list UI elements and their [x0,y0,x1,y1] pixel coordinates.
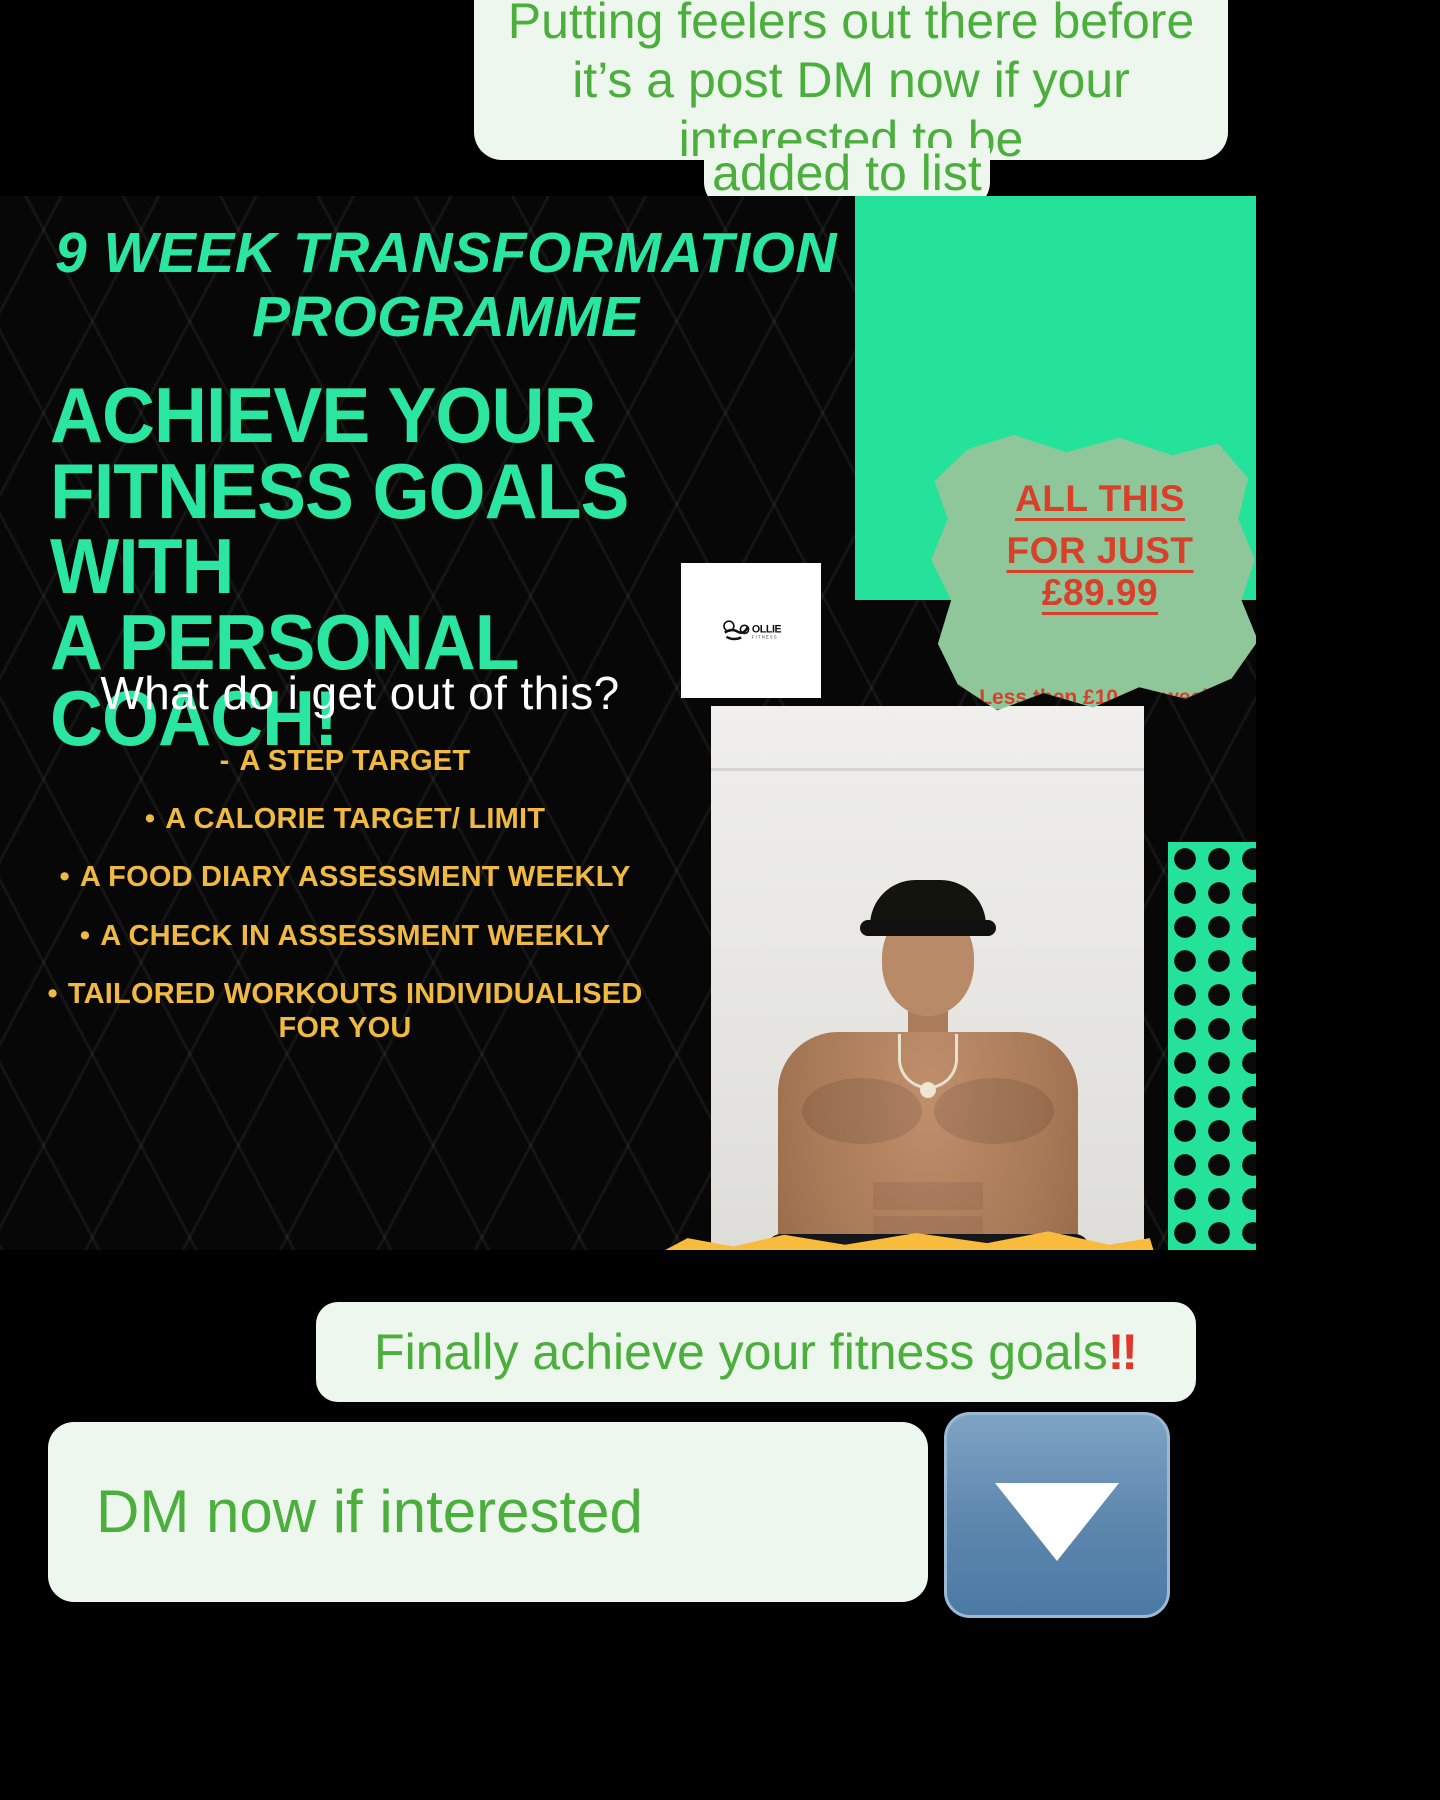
caption-top-text: Putting feelers out there before it’s a … [492,0,1210,169]
bullet-text: A FOOD DIARY ASSESSMENT WEEKLY [80,861,631,893]
pendant-icon [920,1082,936,1098]
brush-caption: online fitness coaching [652,1236,1160,1250]
logo-subtext: FITNESS [751,634,780,639]
promo-poster[interactable]: 9 WEEK TRANSFORMATION PROGRAMME ACHIEVE … [0,196,1256,1250]
brand-logo-card: OLLIE FITNESS [681,563,821,698]
story-canvas: Putting feelers out there before it’s a … [0,0,1440,1800]
necklace-icon [898,1034,958,1089]
bullet-text: A CHECK IN ASSESSMENT WEEKLY [100,920,610,952]
caption-top[interactable]: Putting feelers out there before it’s a … [474,0,1228,160]
list-item: •A CHECK IN ASSESSMENT WEEKLY [0,919,690,953]
bullet-marker: • [48,977,58,1011]
poster-question: What do i get out of this? [40,666,680,720]
caption-bottom-text: DM now if interested [96,1477,643,1548]
figure-chest-left [802,1078,922,1144]
benefits-list: -A STEP TARGET •A CALORIE TARGET/ LIMIT … [0,744,690,1069]
poster-eyebrow-line2: PROGRAMME [36,286,856,350]
poster-headline-line1: ACHIEVE YOUR [50,378,633,454]
triangle-down-icon [995,1483,1119,1561]
caption-bottom[interactable]: DM now if interested [48,1422,928,1602]
caption-top-overflow-text: added to list [712,148,982,198]
bullet-marker: • [145,802,155,836]
cap-brim [860,920,996,936]
triangle-down-button[interactable] [944,1412,1170,1618]
list-item: •A FOOD DIARY ASSESSMENT WEEKLY [0,860,690,894]
photo-wall-line [711,768,1144,771]
caption-middle-text: Finally achieve your fitness goals [374,1323,1108,1382]
coach-figure [778,906,1078,1250]
price-badge-line2: FOR JUST £89.99 [952,530,1248,614]
poster-eyebrow-line1: 9 WEEK TRANSFORMATION [36,222,856,286]
figure-chest-right [934,1078,1054,1144]
poster-eyebrow: 9 WEEK TRANSFORMATION PROGRAMME [36,222,856,350]
list-item: •TAILORED WORKOUTS INDIVIDUALISED FOR YO… [0,977,690,1045]
figure-torso [778,1032,1078,1250]
double-exclamation-icon: ‼ [1108,1323,1138,1382]
logo-wordmark: OLLIE [751,622,780,634]
bullet-marker: • [60,860,70,894]
poster-headline-line2: FITNESS GOALS WITH [50,454,633,605]
coach-photo[interactable]: ⌃ [711,706,1144,1250]
price-badge: ALL THIS FOR JUST £89.99 Less then £10 p… [928,432,1256,722]
bodybuilder-icon [721,618,749,643]
bullet-marker: • [80,919,90,953]
bullet-text: TAILORED WORKOUTS INDIVIDUALISED FOR YOU [68,978,643,1044]
list-item: •A CALORIE TARGET/ LIMIT [0,802,690,836]
caption-middle[interactable]: Finally achieve your fitness goals‼ [316,1302,1196,1402]
bullet-text: A STEP TARGET [239,745,470,777]
list-item: -A STEP TARGET [0,744,690,778]
halftone-dots-decoration [1168,842,1256,1250]
bullet-text: A CALORIE TARGET/ LIMIT [165,803,545,835]
bullet-marker: - [220,744,230,778]
price-badge-line1: ALL THIS [952,478,1248,520]
figure-head [882,906,974,1016]
